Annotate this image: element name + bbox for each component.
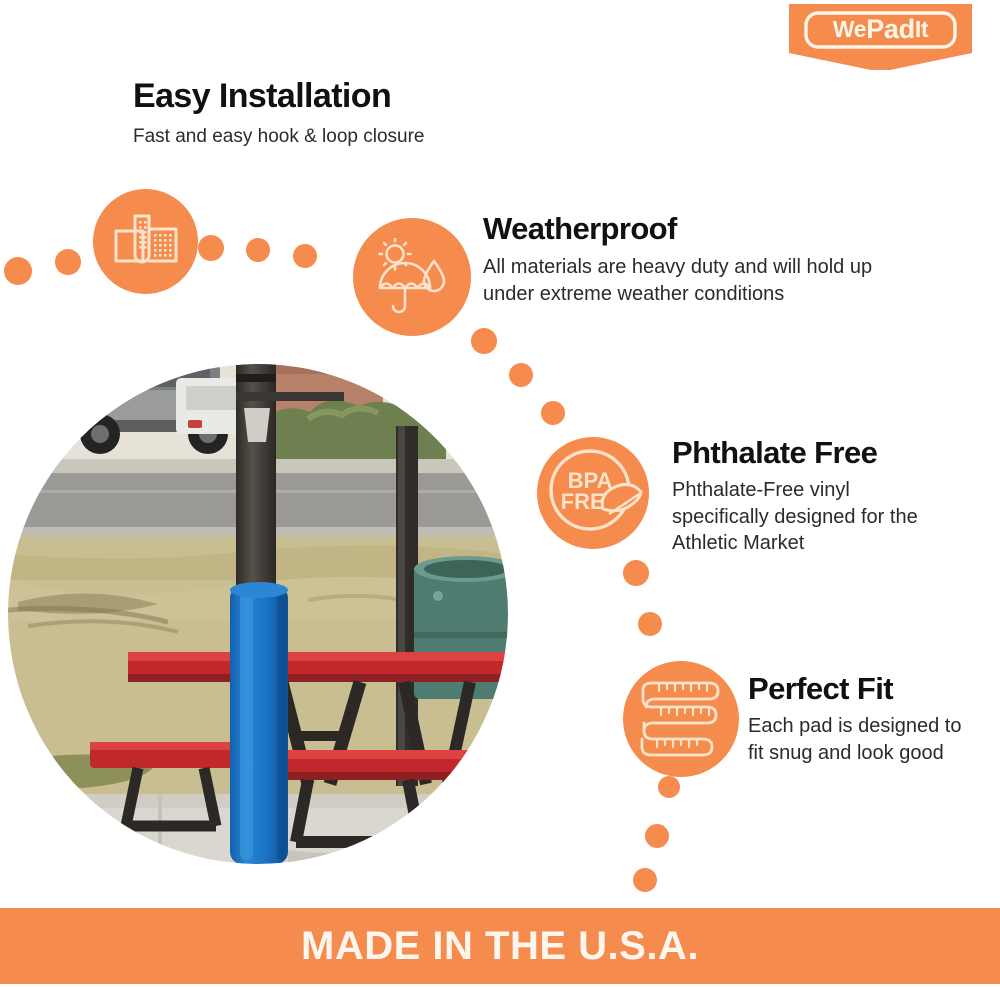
feature-icon-weatherproof (353, 218, 471, 336)
feature-title-phthalate-free: Phthalate Free (672, 436, 942, 469)
feature-title-perfect-fit: Perfect Fit (748, 672, 976, 705)
made-in-usa-banner: MADE IN THE U.S.A. (0, 908, 1000, 984)
infographic-canvas: WePadIt (0, 0, 1000, 987)
feature-description-phthalate-free: Phthalate-Free vinyl specifically design… (672, 477, 942, 556)
feature-title-weatherproof: Weatherproof (483, 212, 903, 245)
logo-wordmark: WePadIt (789, 4, 972, 54)
feature-icon-easy-installation (93, 189, 198, 294)
measuring-tape-icon (635, 676, 727, 762)
feature-description-weatherproof: All materials are heavy duty and will ho… (483, 254, 903, 307)
feature-title-easy-installation: Easy Installation (133, 78, 425, 115)
padded-pole-park-photo (8, 364, 508, 864)
logo-segment-we: We (833, 16, 867, 43)
feature-block-easy-installation: Easy Installation Fast and easy hook & l… (133, 78, 425, 149)
bpa-free-leaf-icon: BPA FREE (537, 437, 649, 549)
feature-block-perfect-fit: Perfect Fit Each pad is designed to fit … (748, 672, 976, 766)
made-in-usa-label: MADE IN THE U.S.A. (301, 924, 699, 969)
park-scene-illustration (8, 364, 508, 864)
feature-icon-perfect-fit (623, 661, 739, 777)
feature-description-perfect-fit: Each pad is designed to fit snug and loo… (748, 713, 976, 766)
umbrella-sun-rain-icon (372, 238, 452, 316)
feature-block-weatherproof: Weatherproof All materials are heavy dut… (483, 212, 903, 307)
feature-block-phthalate-free: Phthalate Free Phthalate-Free vinyl spec… (672, 436, 942, 557)
feature-description-easy-installation: Fast and easy hook & loop closure (133, 124, 425, 149)
logo-segment-pad: Pad (866, 14, 915, 45)
feature-icon-phthalate-free: BPA FREE (537, 437, 649, 549)
hook-and-loop-icon (113, 211, 179, 273)
logo-segment-it: It (915, 16, 928, 43)
